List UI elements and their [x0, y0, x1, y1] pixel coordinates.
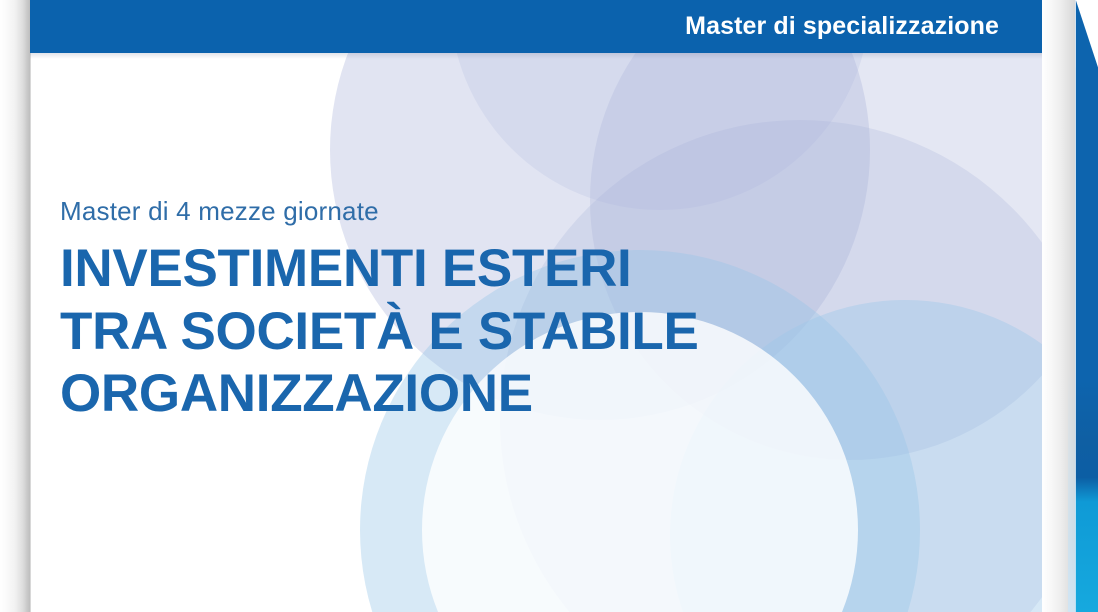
title-line-1: INVESTIMENTI ESTERI — [60, 238, 930, 301]
title-line-2: TRA SOCIETÀ E STABILE — [60, 301, 930, 364]
banner-label: Master di specializzazione — [685, 12, 999, 41]
right-spine — [1068, 0, 1098, 612]
course-kicker: Master di 4 mezze giornate — [60, 198, 930, 224]
header-banner: Master di specializzazione — [30, 0, 1042, 53]
brochure-cover: Master di specializzazione Master di 4 m… — [0, 0, 1098, 612]
page-title: INVESTIMENTI ESTERI TRA SOCIETÀ E STABIL… — [60, 238, 930, 426]
headline-block: Master di 4 mezze giornate INVESTIMENTI … — [30, 198, 930, 426]
page-fold-shadow — [0, 0, 31, 612]
title-line-3: ORGANIZZAZIONE — [60, 363, 930, 426]
